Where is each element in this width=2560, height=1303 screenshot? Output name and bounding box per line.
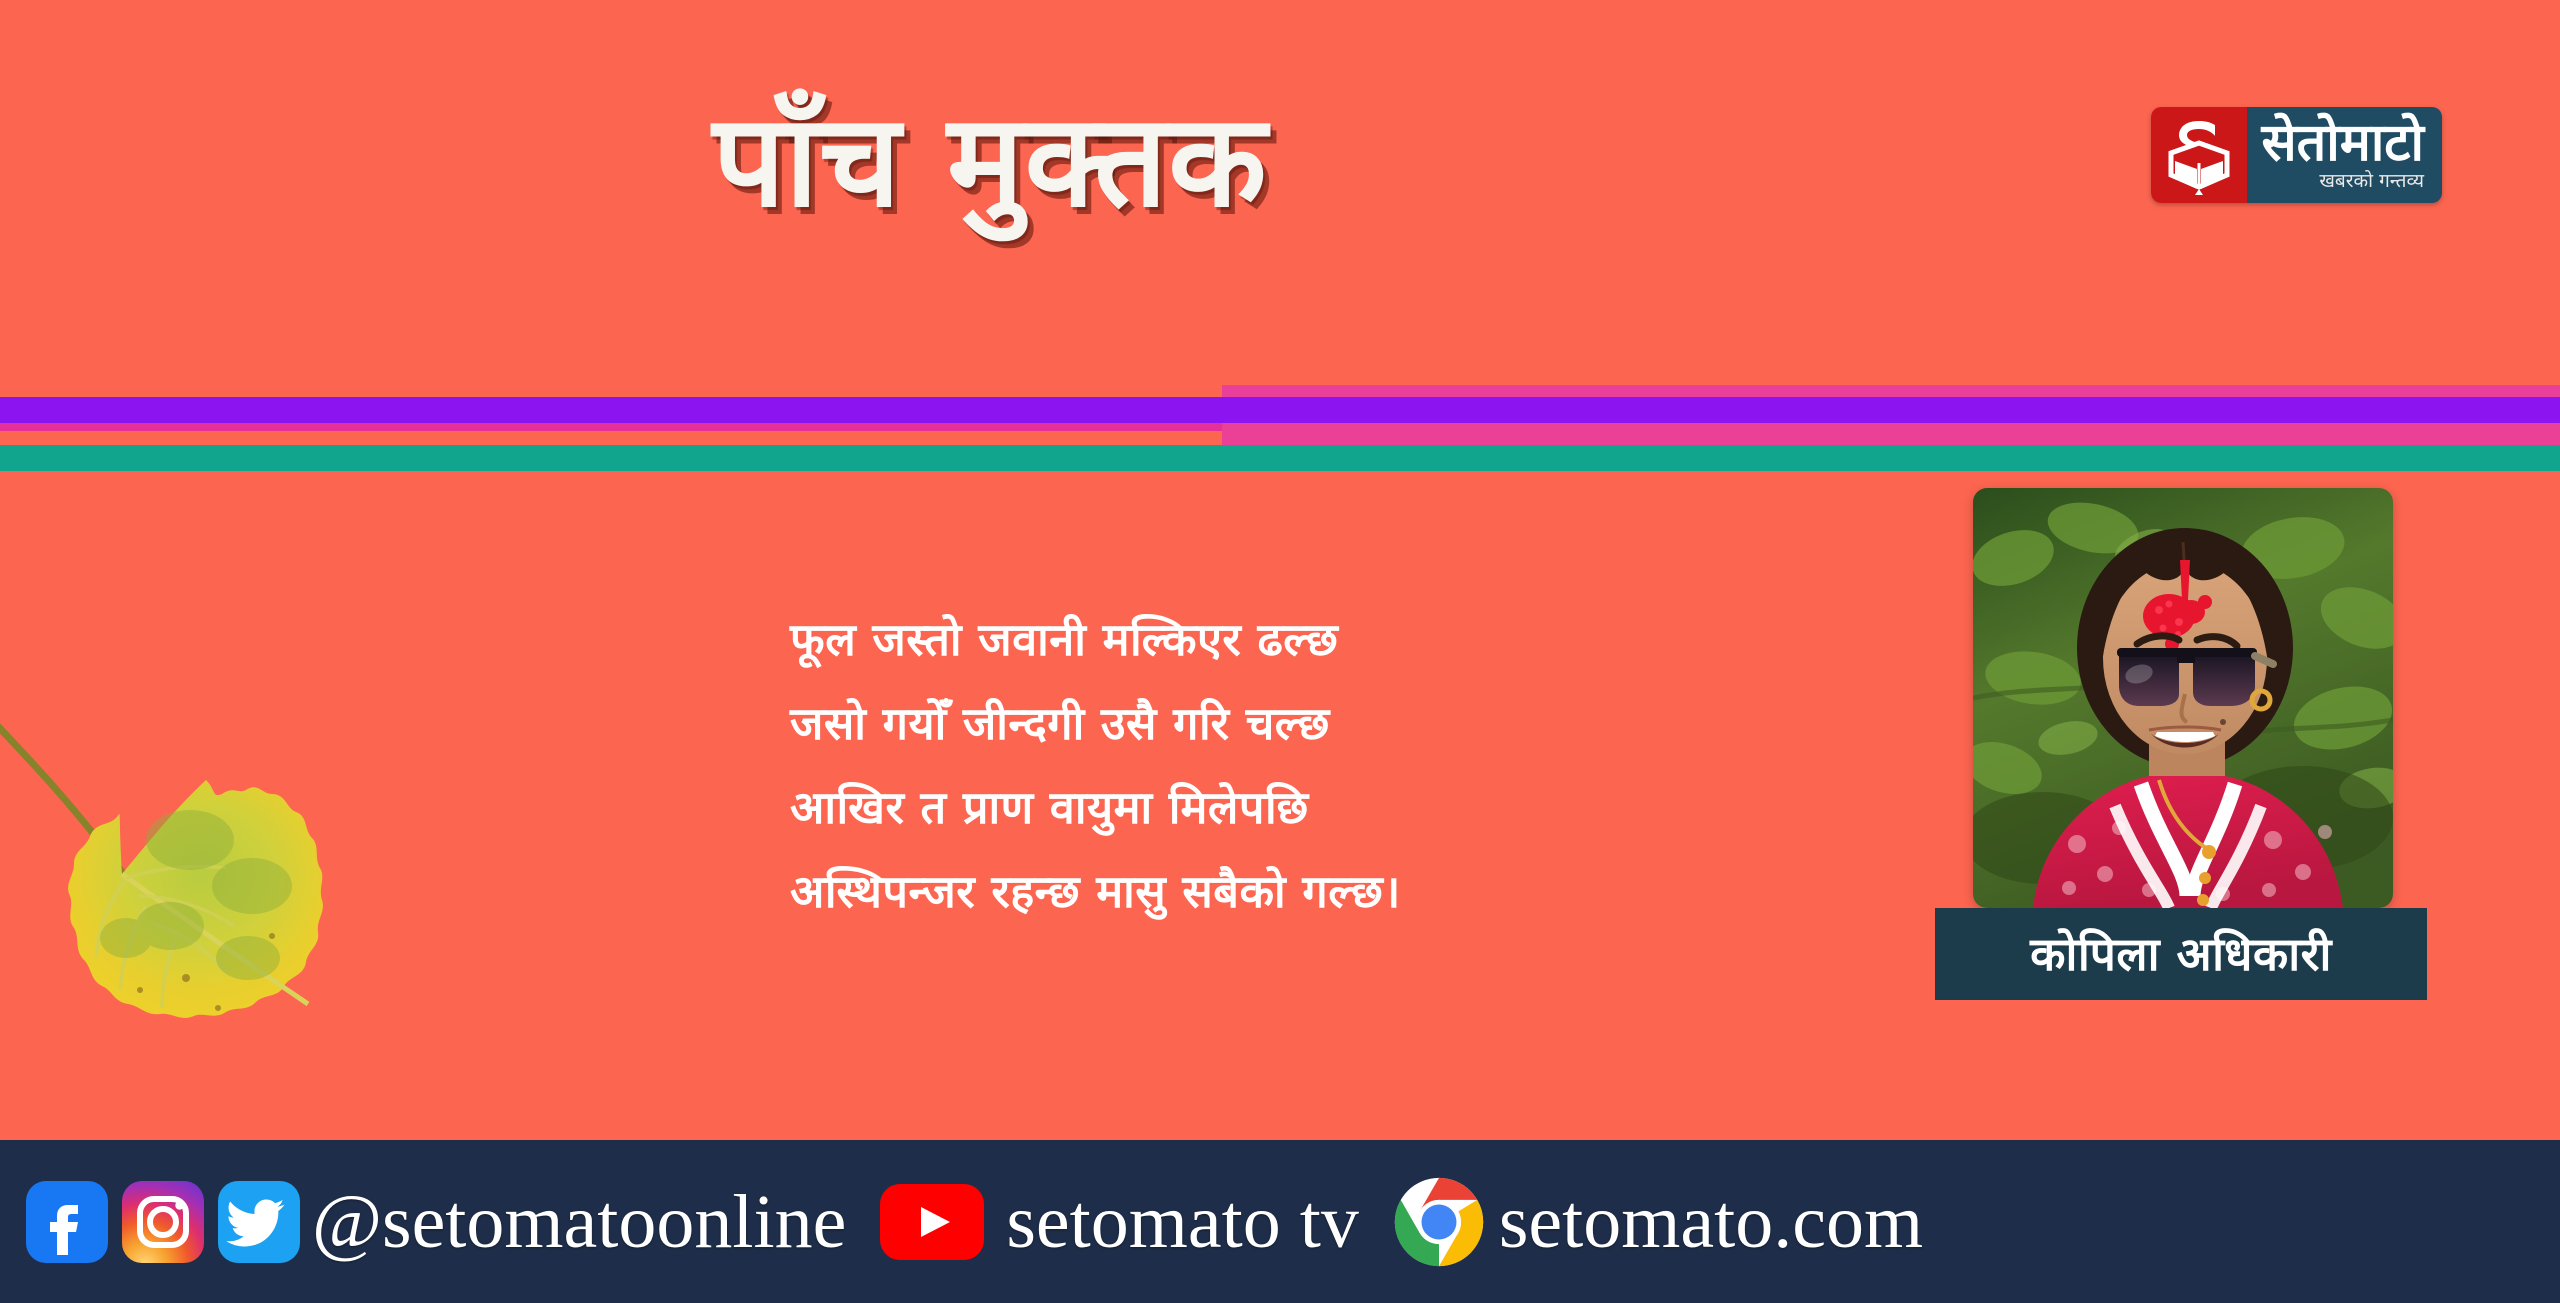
website-item: setomato.com <box>1393 1176 1923 1268</box>
social-icon-group <box>26 1181 300 1263</box>
website-label: setomato.com <box>1499 1184 1923 1260</box>
poem-line: जसो गयोँ जीन्दगी उसै गरि चल्छ <box>790 682 1690 766</box>
youtube-item: setomato tv <box>880 1184 1359 1260</box>
setomato-s-book-icon <box>2151 107 2247 203</box>
author-name-badge: कोपिला अधिकारी <box>1935 908 2427 1000</box>
social-footer: @setomatoonline setomato tv setomato.com <box>0 1140 2560 1303</box>
author-name: कोपिला अधिकारी <box>2030 931 2332 977</box>
stripe-magenta-bottom-right <box>1222 423 2560 445</box>
chrome-icon[interactable] <box>1393 1176 1485 1268</box>
stripe-orange-gap <box>0 431 1222 445</box>
stripe-purple <box>0 397 2560 423</box>
logo-text-panel: सेतोमाटो खबरको गन्तव्य <box>2247 107 2442 203</box>
poem-line: आखिर त प्राण वायुमा मिलेपछि <box>790 766 1690 850</box>
stripe-magenta-bottom-left <box>0 423 1222 431</box>
instagram-icon[interactable] <box>122 1181 204 1263</box>
poster-header: पाँच मुक्तक सेतोमाटो खबरको गन्तव्य <box>0 0 2560 385</box>
divider-stripes <box>0 385 2560 445</box>
youtube-icon[interactable] <box>880 1184 984 1260</box>
poem-line: अस्थिपन्जर रहन्छ मासु सबैको गल्छ। <box>790 850 1690 934</box>
page-title: पाँच मुक्तक <box>620 98 1360 226</box>
poster-canvas: पाँच मुक्तक सेतोमाटो खबरको गन्तव्य <box>0 0 2560 1303</box>
stripe-magenta-top <box>1222 385 2560 397</box>
twitter-icon[interactable] <box>218 1181 300 1263</box>
stripe-teal <box>0 445 2560 471</box>
facebook-icon[interactable] <box>26 1181 108 1263</box>
setomato-logo: सेतोमाटो खबरको गन्तव्य <box>2151 107 2442 203</box>
poem-line: फूल जस्तो जवानी मल्किएर ढल्छ <box>790 598 1690 682</box>
youtube-label: setomato tv <box>1006 1184 1359 1260</box>
author-portrait <box>1973 488 2393 908</box>
poem-text: फूल जस्तो जवानी मल्किएर ढल्छ जसो गयोँ जी… <box>790 598 1690 934</box>
autumn-leaf-icon <box>0 690 410 1090</box>
logo-tagline: खबरको गन्तव्य <box>2319 171 2424 192</box>
logo-name: सेतोमाटो <box>2261 116 2424 171</box>
social-handle: @setomatoonline <box>312 1184 846 1260</box>
